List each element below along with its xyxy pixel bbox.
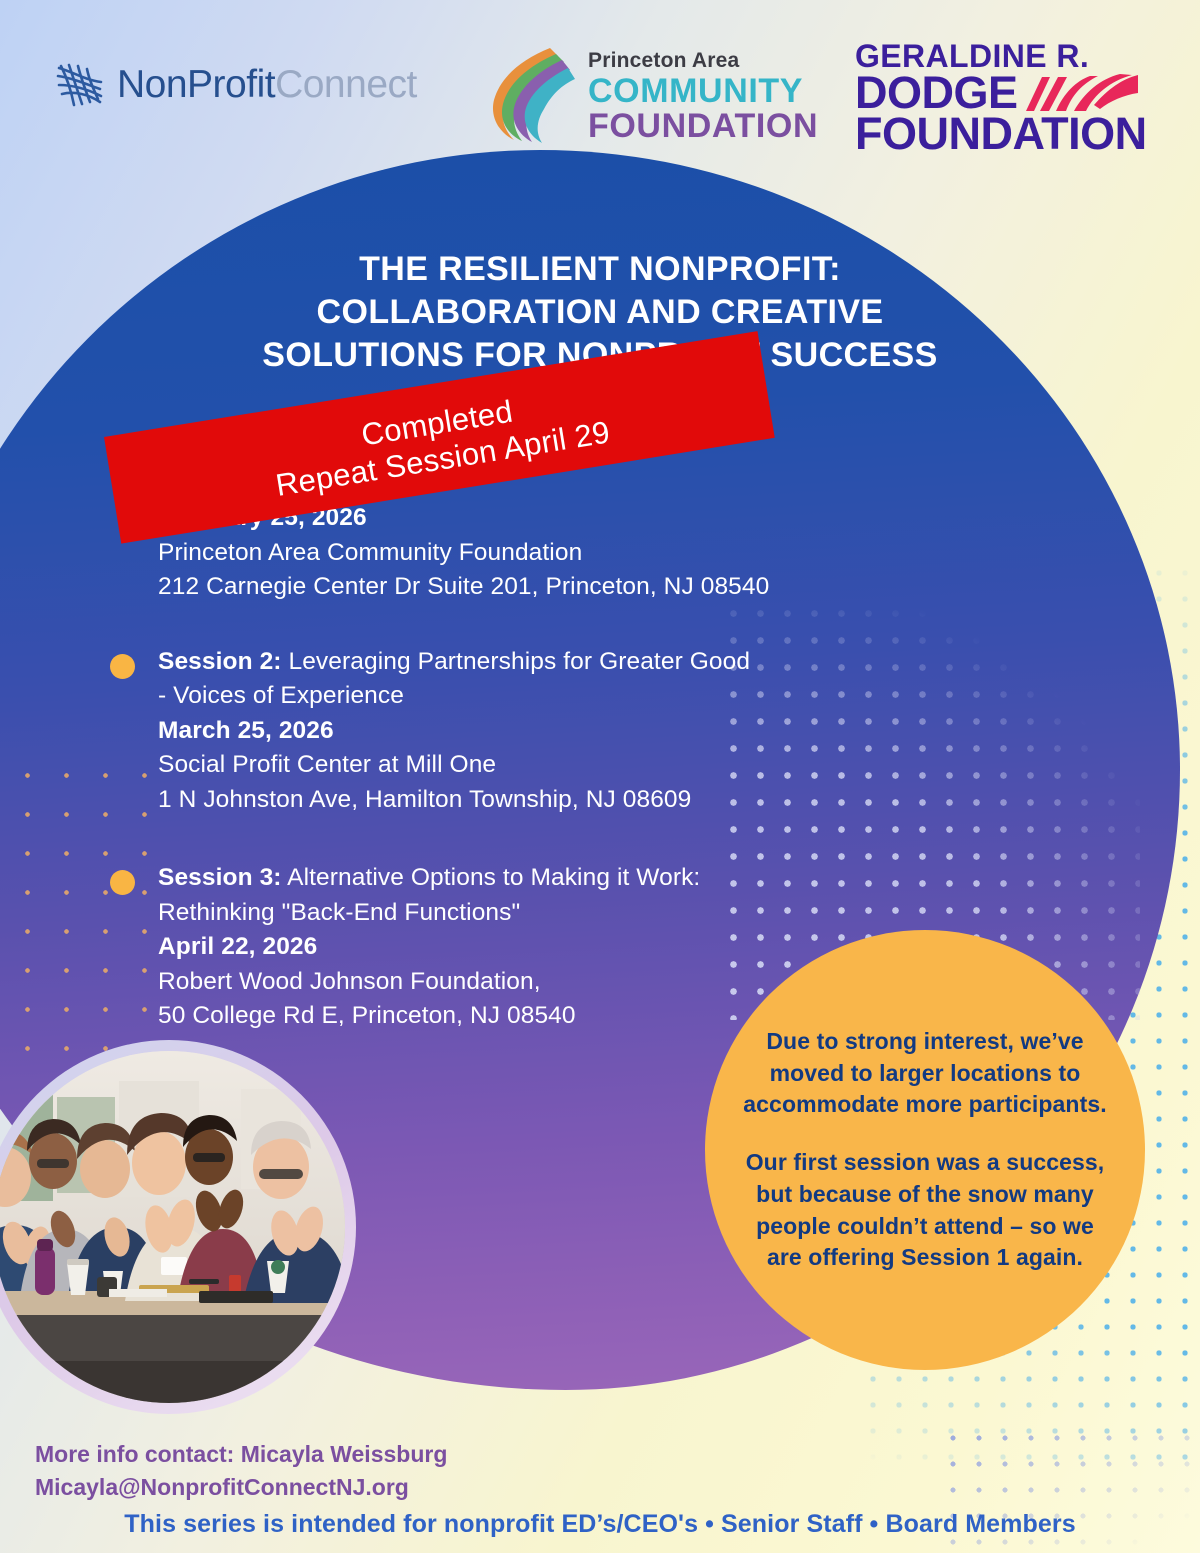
flyer-page: NonProfitConnect Princeton Area COMMUNIT… — [0, 0, 1200, 1553]
session-item-3: Session 3: Alternative Options to Making… — [110, 861, 950, 1034]
contact-email[interactable]: Micayla@NonprofitConnectNJ.org — [35, 1471, 447, 1504]
photo-frame — [0, 1040, 356, 1414]
logo-npc-part2: Connect — [275, 63, 417, 106]
session-3-title-row: Session 3: Alternative Options to Making… — [158, 861, 950, 896]
session-3-venue: Robert Wood Johnson Foundation, — [158, 965, 950, 1000]
session-3-heading: Alternative Options to Making it Work: — [287, 864, 700, 891]
session-3-subheading: Rethinking "Back-End Functions" — [158, 896, 950, 931]
session-1-venue: Princeton Area Community Foundation — [158, 536, 950, 571]
session-2-title-row: Session 2: Leveraging Partnerships for G… — [158, 645, 950, 680]
title-line-1: THE RESILIENT NONPROFIT: — [160, 248, 1040, 291]
contact-line-1: More info contact: Micayla Weissburg — [35, 1438, 447, 1471]
announcement-paragraph-2: Our first session was a success, but bec… — [740, 1147, 1110, 1274]
session-3-label: Session 3: — [158, 864, 282, 891]
session-item-2: Session 2: Leveraging Partnerships for G… — [110, 645, 950, 818]
logo-pacf-line2: COMMUNITY — [588, 74, 818, 108]
logo-pacf-line1: Princeton Area — [588, 50, 818, 71]
starburst-icon — [55, 62, 107, 108]
ribbon-swirl-icon — [480, 44, 576, 144]
session-list: Strategic Alliances in Practice: When, W… — [110, 432, 950, 1068]
contact-info: More info contact: Micayla Weissburg Mic… — [35, 1438, 447, 1503]
logo-community-foundation-text: Princeton Area COMMUNITY FOUNDATION — [588, 44, 818, 143]
session-2-date: March 25, 2026 — [158, 714, 950, 749]
session-2-venue: Social Profit Center at Mill One — [158, 748, 950, 783]
session-3-date: April 22, 2026 — [158, 930, 950, 965]
logo-npc-part1: NonProfit — [117, 63, 275, 106]
logo-bar: NonProfitConnect Princeton Area COMMUNIT… — [0, 0, 1200, 160]
bullet-dot-icon — [110, 870, 135, 895]
logo-pacf-line3: FOUNDATION — [588, 109, 818, 143]
logo-nonprofit-connect-text: NonProfitConnect — [117, 63, 417, 107]
session-2-address: 1 N Johnston Ave, Hamilton Township, NJ … — [158, 783, 950, 818]
title-line-2: COLLABORATION AND CREATIVE — [160, 291, 1040, 334]
session-2-heading: Leveraging Partnerships for Greater Good — [288, 648, 750, 675]
session-3-address: 50 College Rd E, Princeton, NJ 08540 — [158, 999, 950, 1034]
audience-line: This series is intended for nonprofit ED… — [0, 1510, 1200, 1539]
announcement-spacer — [740, 1121, 1110, 1147]
logo-dodge-foundation: GERALDINE R. DODGE FOUNDATION — [855, 40, 1147, 156]
session-2-subheading: - Voices of Experience — [158, 679, 950, 714]
logo-dodge-line3: FOUNDATION — [855, 111, 1147, 156]
workshop-photo — [0, 1051, 345, 1403]
session-2-label: Session 2: — [158, 648, 282, 675]
session-1-address: 212 Carnegie Center Dr Suite 201, Prince… — [158, 570, 950, 605]
logo-community-foundation: Princeton Area COMMUNITY FOUNDATION — [480, 44, 818, 144]
logo-nonprofit-connect: NonProfitConnect — [55, 62, 417, 108]
bullet-dot-icon — [110, 654, 135, 679]
